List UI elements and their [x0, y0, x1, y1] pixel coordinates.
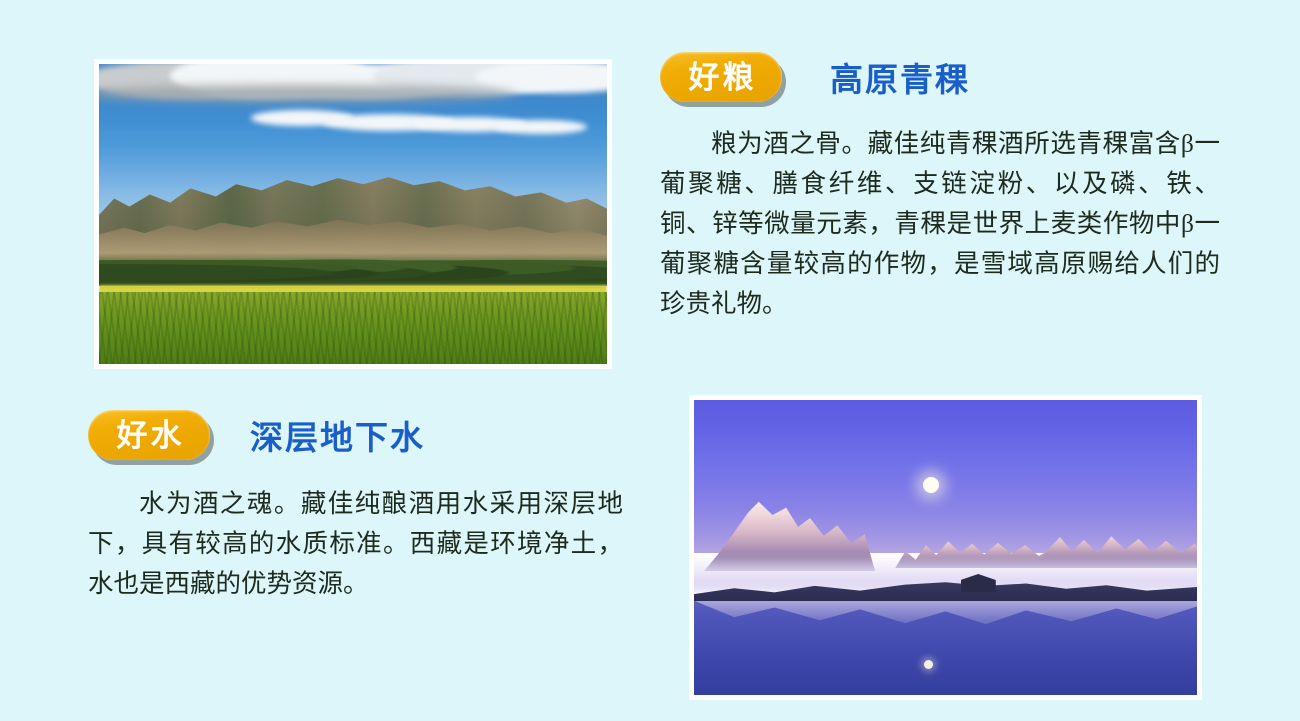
- badge-water: 好水: [88, 410, 210, 460]
- section-water: 好水 深层地下水 水为酒之魂。藏佳纯酿酒用水采用深层地下，具有较高的水质标准。西…: [88, 404, 633, 630]
- barley-field: [99, 292, 607, 364]
- cloud-icon: [495, 120, 586, 134]
- mountain-reflection: [694, 601, 1197, 650]
- moon-icon: [923, 477, 939, 493]
- cloud-shadow: [99, 85, 516, 102]
- section-grain-header: 好粮 高原青稞: [660, 46, 1220, 108]
- section-grain: 好粮 高原青稞 粮为酒之骨。藏佳纯青稞酒所选青稞富含β一葡聚糖、膳食纤维、支链淀…: [660, 46, 1220, 350]
- snow-mountain-lake-image: [694, 400, 1197, 695]
- moon-reflection: [924, 660, 933, 669]
- slide-canvas: 好粮 高原青稞 粮为酒之骨。藏佳纯青稞酒所选青稞富含β一葡聚糖、膳食纤维、支链淀…: [0, 0, 1300, 721]
- badge-grain-label: 好粮: [686, 62, 757, 93]
- lake-water: [694, 601, 1197, 695]
- badge-water-label: 好水: [114, 420, 185, 451]
- section-grain-title: 高原青稞: [830, 53, 970, 101]
- barley-field-photo: [95, 60, 611, 368]
- section-water-paragraph: 水为酒之魂。藏佳纯酿酒用水采用深层地下，具有较高的水质标准。西藏是环境净土，水也…: [88, 484, 623, 604]
- barley-field-image: [99, 64, 607, 364]
- section-water-header: 好水 深层地下水: [88, 404, 633, 466]
- section-water-title: 深层地下水: [250, 411, 425, 459]
- tree-line: [99, 253, 607, 286]
- section-grain-paragraph: 粮为酒之骨。藏佳纯青稞酒所选青稞富含β一葡聚糖、膳食纤维、支链淀粉、以及磷、铁、…: [660, 124, 1220, 324]
- snow-mountain-lake-photo: [690, 396, 1201, 699]
- badge-grain: 好粮: [660, 52, 782, 102]
